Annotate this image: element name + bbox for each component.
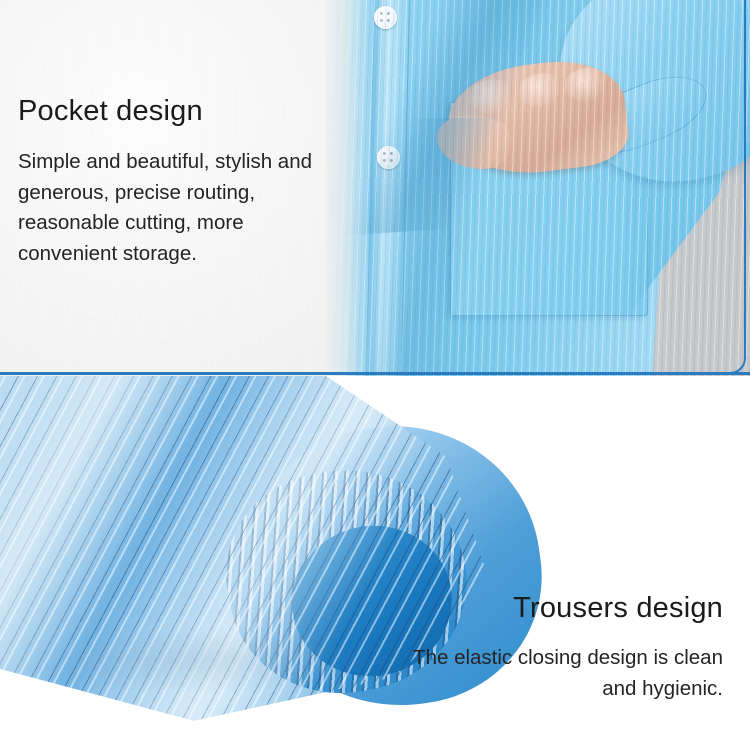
photo-edge-fade [326, 0, 372, 376]
pocket-design-panel: Pocket design Simple and beautiful, styl… [0, 0, 750, 376]
trousers-design-panel: Trousers design The elastic closing desi… [0, 376, 750, 750]
lab-coat-pocket-photo [326, 0, 750, 376]
trousers-design-heading: Trousers design [393, 590, 723, 626]
trouser-drop-shadow [20, 626, 380, 696]
trousers-design-text-block: Trousers design The elastic closing desi… [393, 590, 723, 704]
pocket-design-text-block: Pocket design Simple and beautiful, styl… [18, 93, 330, 269]
pocket-design-heading: Pocket design [18, 93, 330, 129]
pocket-design-body: Simple and beautiful, stylish and genero… [18, 147, 330, 269]
trousers-design-body: The elastic closing design is clean and … [393, 643, 723, 704]
panel-divider [0, 372, 750, 375]
product-feature-image: Pocket design Simple and beautiful, styl… [0, 0, 750, 750]
